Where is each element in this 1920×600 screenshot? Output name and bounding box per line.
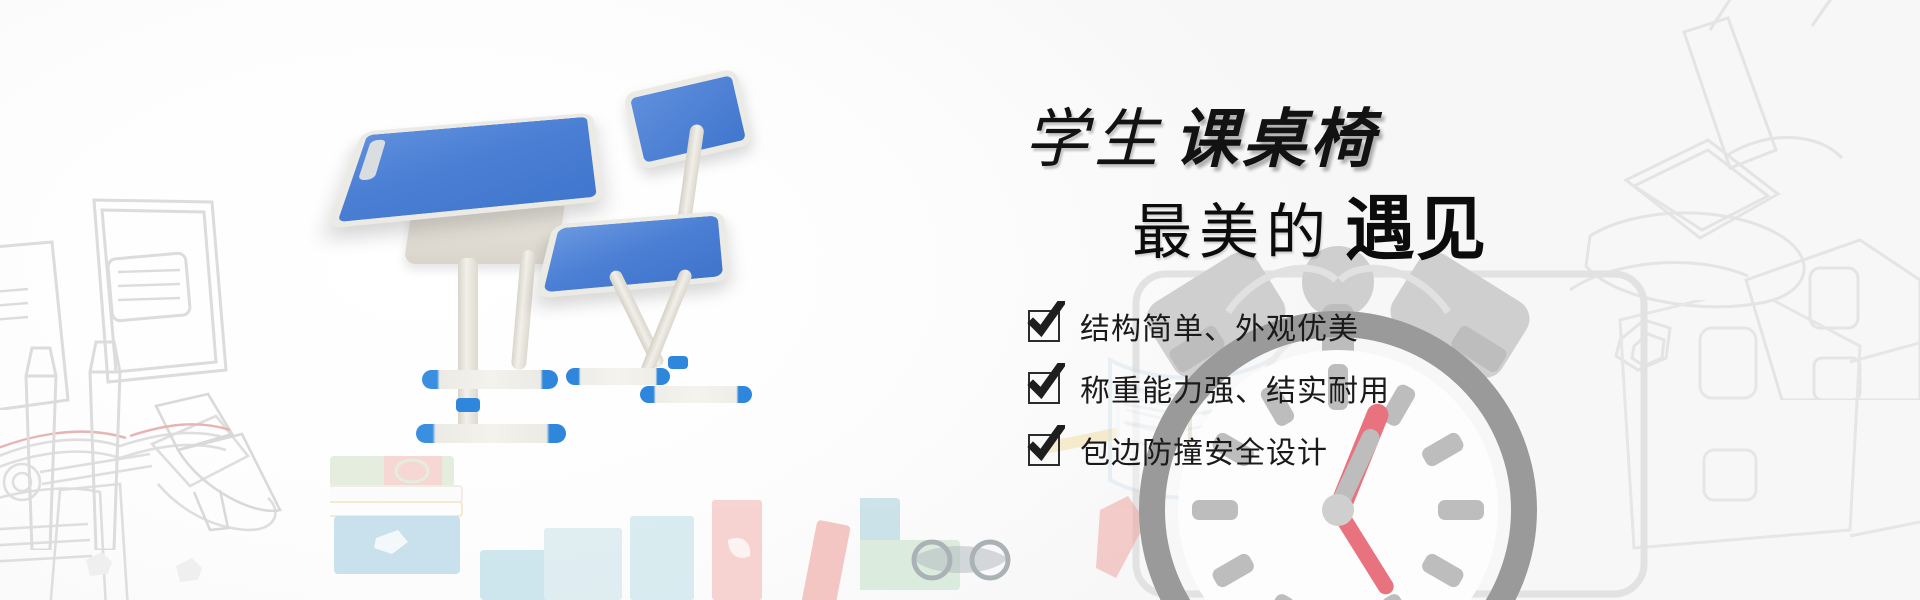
headline-line-1: 学生课桌椅 (1010, 108, 1570, 172)
headline-line-2-emphasis: 遇见 (1345, 190, 1487, 268)
chair-foot-right (640, 386, 752, 403)
desk-foot-upper (422, 370, 558, 389)
desk-pen-groove (358, 139, 387, 180)
feature-list: 结构简单、外观优美 称重能力强、结实耐用 包边防撞安全设计 (1010, 304, 1570, 472)
checkbox-check-icon (1028, 434, 1060, 466)
feature-item-1: 结构简单、外观优美 (1028, 304, 1570, 348)
headline-line-2-lead: 最美的 (1132, 200, 1333, 266)
desk-foot-lower (416, 424, 566, 443)
feature-item-3: 包边防撞安全设计 (1028, 428, 1570, 472)
checkbox-check-icon (1028, 310, 1060, 342)
desk-leg-band (456, 398, 480, 412)
chair-leg-band (668, 356, 688, 369)
feature-item-3-label: 包边防撞安全设计 (1080, 428, 1328, 472)
feature-item-1-label: 结构简单、外观优美 (1080, 304, 1359, 348)
chair-seat (534, 211, 731, 299)
headline-line-1-emphasis: 课桌椅 (1174, 104, 1378, 175)
feature-item-2-label: 称重能力强、结实耐用 (1080, 366, 1390, 410)
product-photo-desk-and-chair (330, 80, 810, 450)
checkbox-check-icon (1028, 372, 1060, 404)
promo-banner: 学生课桌椅 最美的遇见 结构简单、外观优美 称重能力强 (0, 0, 1920, 600)
background-decorations (0, 0, 1920, 600)
satchel-outline-icon (1600, 300, 1920, 600)
banner-copy: 学生课桌椅 最美的遇见 结构简单、外观优美 称重能力强 (1010, 108, 1570, 490)
feature-item-2: 称重能力强、结实耐用 (1028, 366, 1570, 410)
pencil-outline-icon (10, 320, 170, 550)
headline-line-2: 最美的遇见 (1010, 194, 1570, 264)
chair-foot-left (566, 368, 670, 385)
notebook-outline-icon (0, 70, 320, 410)
headline-line-1-lead: 学生 (1024, 104, 1164, 175)
desk-leg-rear (511, 250, 536, 371)
